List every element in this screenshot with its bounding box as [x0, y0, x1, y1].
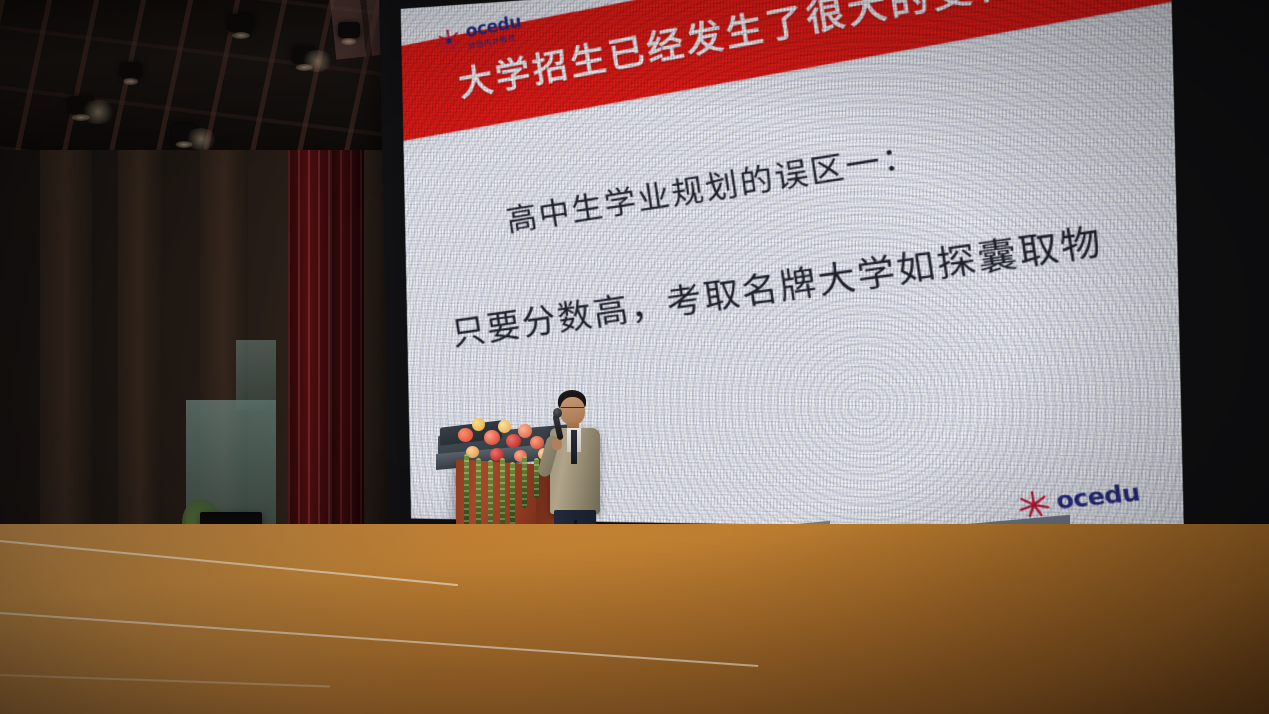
starburst-icon [1016, 487, 1051, 519]
lamp-glow [184, 128, 218, 150]
glasses-icon [561, 407, 584, 412]
microphone-head [553, 408, 562, 418]
gym-floor [0, 524, 1269, 714]
presenter-hand [552, 438, 562, 450]
flower-vine [464, 454, 469, 528]
slide-body: 高中生学业规划的误区一： 只要分数高，考取名牌大学如探囊取物 [407, 86, 1184, 359]
stage-light-icon [228, 14, 254, 32]
stage-light-icon [120, 62, 142, 78]
presenter-tie [571, 430, 577, 464]
flower-petal [506, 434, 521, 448]
flower-petal [498, 420, 511, 433]
flower-petal [518, 424, 532, 438]
window [236, 340, 276, 410]
stage-light-icon [338, 22, 360, 38]
slide-banner-title: 大学招生已经发生了很大的变化 [455, 0, 1022, 107]
starburst-icon [434, 25, 463, 56]
floor-sheen [0, 524, 1269, 714]
footer-logo-wordmark: ocedu [1054, 479, 1141, 514]
flower-vine [522, 456, 527, 508]
slide-footer-logo: ocedu [1016, 478, 1142, 519]
flower-petal [484, 430, 500, 445]
flower-vine [510, 462, 515, 526]
wall-pillar [118, 130, 162, 570]
lamp-glow [80, 100, 116, 124]
flower-petal [458, 428, 473, 442]
flower-petal [472, 418, 485, 431]
lamp-glow [300, 50, 334, 72]
wall-pillar [40, 140, 92, 560]
stage-presentation-scene: 大学招生已经发生了很大的变化 [0, 0, 1269, 714]
stage-curtain-left-fold [330, 86, 364, 571]
